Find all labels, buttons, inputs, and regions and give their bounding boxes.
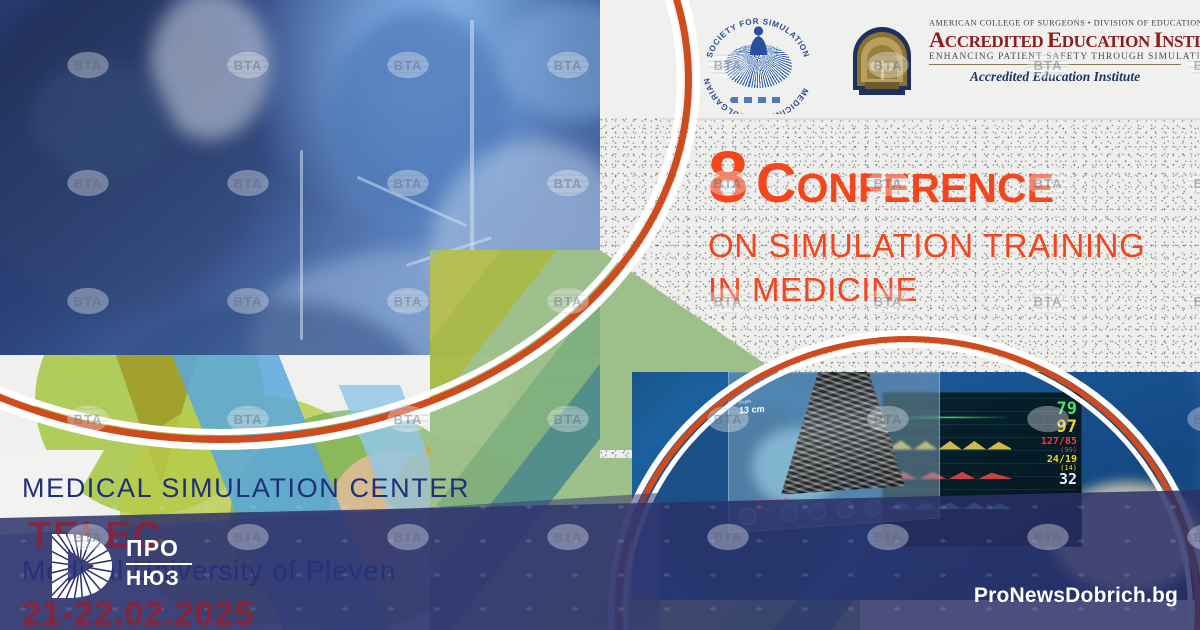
vital-spo2: 97 <box>1011 419 1077 437</box>
bssm-logo: SOCIETY FOR SIMULATION MEDICINE BULGARIA… <box>694 8 822 114</box>
medical-simulation-center-title: MEDICAL SIMULATION CENTER <box>22 473 470 504</box>
poster-root: 79 97 127/85 (99) 24/19 (14) 32 John Doe… <box>0 0 1200 630</box>
vital-temperature: 32 <box>1011 472 1077 488</box>
depth-label: Depth <box>739 399 751 405</box>
conference-headline: 8 CONFERENCE ON SIMULATION TRAINING IN M… <box>708 145 1178 312</box>
pronews-logo-line1: ПРО <box>126 537 192 560</box>
depth-value: 13 cm <box>739 404 765 416</box>
acs-divider <box>929 64 1181 66</box>
monitor-vitals: 79 97 127/85 (99) 24/19 (14) 32 <box>1011 401 1077 488</box>
acs-aei-logo: AMERICAN COLLEGE OF SURGEONS • DIVISION … <box>845 18 1185 110</box>
pronews-logo[interactable]: ПРО НЮЗ <box>44 528 194 604</box>
conference-subtitle-line1: ON SIMULATION TRAINING <box>708 225 1178 267</box>
header-divider <box>660 118 1200 120</box>
bssm-figure-icon <box>749 26 768 56</box>
acs-tagline: ENHANCING PATIENT SAFETY THROUGH SIMULAT… <box>929 52 1185 62</box>
conference-subtitle-line2: IN MEDICINE <box>708 269 1178 311</box>
conference-word: CONFERENCE <box>756 156 1054 211</box>
pronews-logo-divider <box>126 563 192 565</box>
ultrasound-image <box>781 372 905 495</box>
site-url[interactable]: ProNewsDobrich.bg <box>974 584 1178 608</box>
acs-title: ACCREDITED EDUCATION INSTITUTES <box>929 28 1185 52</box>
acs-seal-icon <box>845 22 919 102</box>
pronews-mark-icon <box>44 528 116 604</box>
bssm-dashes-icon <box>730 97 786 103</box>
pronews-logo-line2: НЮЗ <box>126 568 192 589</box>
acs-accreditation: Accredited Education Institute <box>929 69 1181 85</box>
conference-number: 8 <box>708 145 746 211</box>
